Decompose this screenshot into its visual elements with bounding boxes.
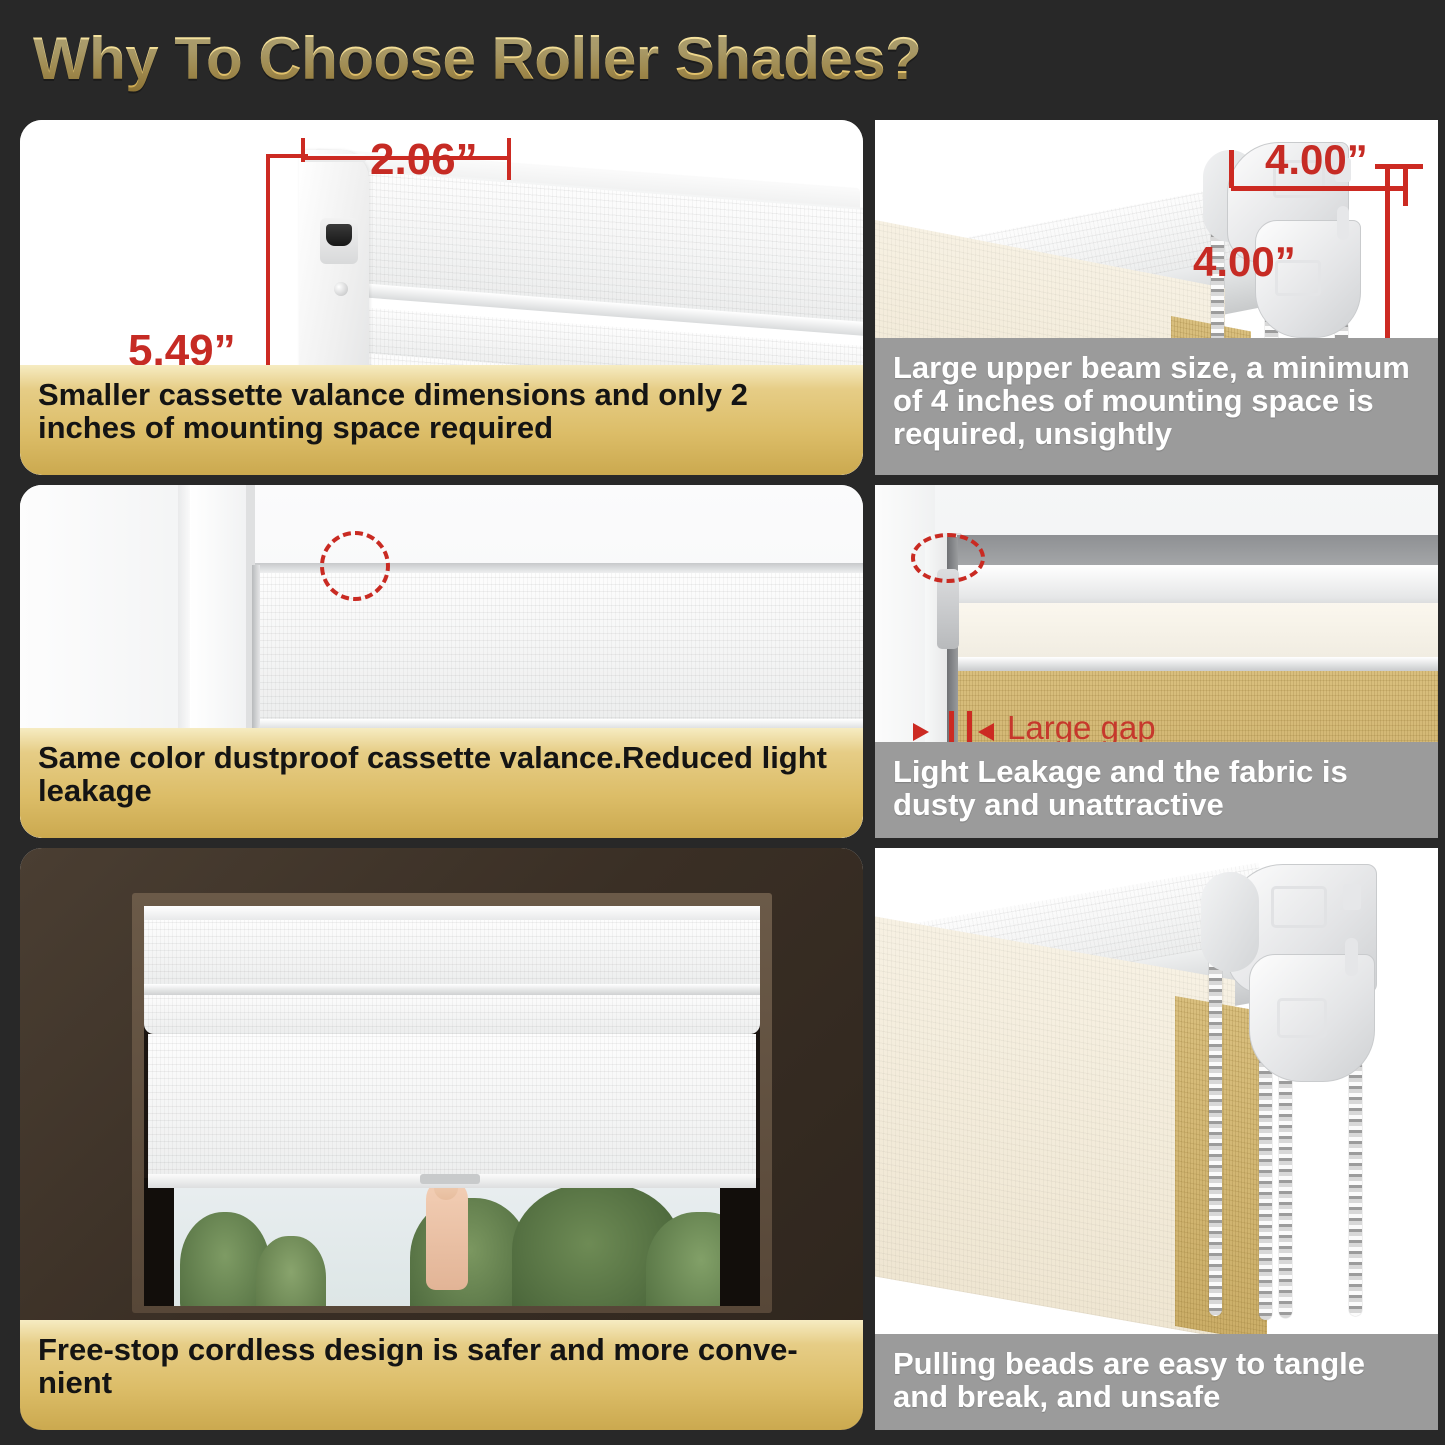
panel-2: 4.00” 4.00” Large upper beam size, a min… — [875, 120, 1438, 475]
panel-3-caption: Same color dustproof cassette valance.Re… — [20, 728, 863, 838]
page-title: Why To Choose Roller Shades? — [33, 24, 921, 93]
panel-5-caption: Free-stop cordless design is safer and m… — [20, 1320, 863, 1430]
panel-3: smaller gap Same color dustproof cassett… — [20, 485, 863, 838]
highlight-circle — [911, 533, 985, 583]
panel-1: 2.06” 5.49” Smaller cassette valance dim… — [20, 120, 863, 475]
panel-4-caption: Light Leakage and the fabric is dusty an… — [875, 742, 1438, 838]
panel-2-caption: Large upper beam size, a minimum of 4 in… — [875, 338, 1438, 475]
panel-6-caption: Pulling beads are easy to tangle and bre… — [875, 1334, 1438, 1430]
header: Why To Choose Roller Shades? — [0, 0, 1445, 112]
dimension-label-width: 2.06” — [370, 135, 478, 185]
panel-4: Large gap Light Leakage and the fabric i… — [875, 485, 1438, 838]
dimension-label-width: 4.00” — [1265, 136, 1368, 184]
dimension-label-height: 4.00” — [1193, 238, 1296, 286]
panel-1-caption: Smaller cassette valance dimensions and … — [20, 365, 863, 475]
panel-6: Pulling beads are easy to tangle and bre… — [875, 848, 1438, 1430]
panel-5: Free-stop cordless design is safer and m… — [20, 848, 863, 1430]
highlight-circle — [320, 531, 390, 601]
comparison-grid: 2.06” 5.49” Smaller cassette valance dim… — [0, 112, 1445, 1445]
